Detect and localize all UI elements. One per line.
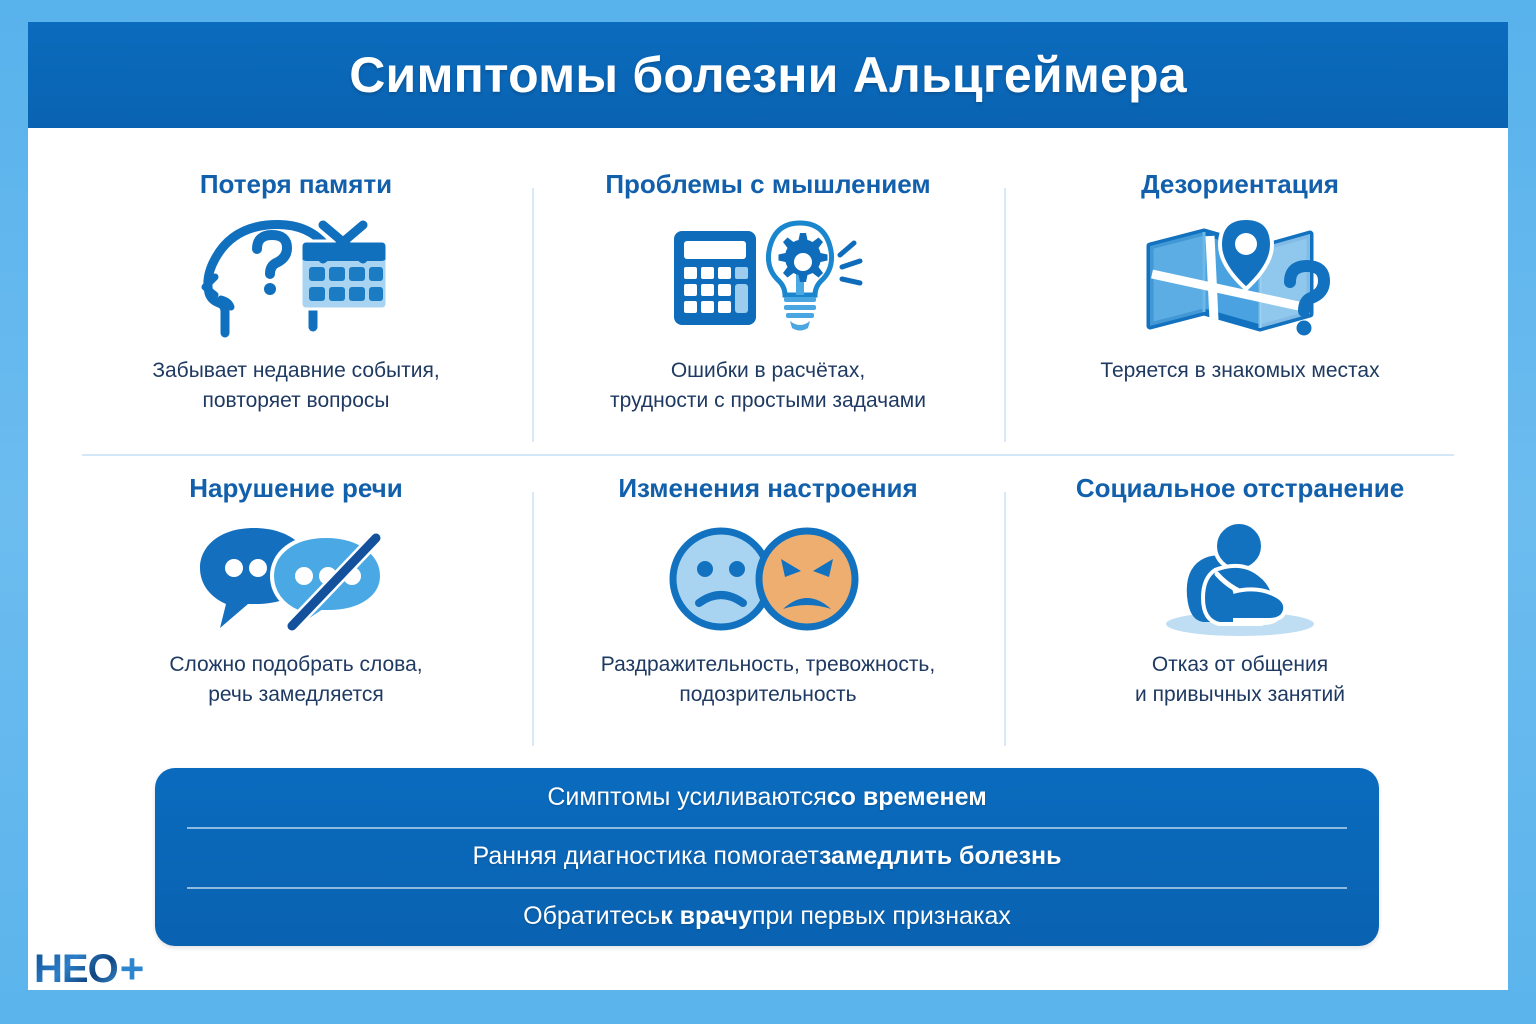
logo-plus-icon: + xyxy=(120,948,144,990)
infographic-page: Симптомы болезни Альцгеймера Потеря памя… xyxy=(0,0,1536,1024)
card-description: Ошибки в расчётах,трудности с простыми з… xyxy=(610,356,926,416)
symptom-card-thinking-problems[interactable]: Проблемы с мышлением xyxy=(532,150,1004,454)
banner-line-plain: Обратитесь xyxy=(523,902,660,931)
card-description: Забывает недавние события,повторяет вопр… xyxy=(152,356,439,416)
neo-plus-logo: НЕО + xyxy=(34,948,143,990)
header-bar: Симптомы болезни Альцгеймера xyxy=(28,22,1508,128)
card-description: Раздражительность, тревожность,подозрите… xyxy=(601,650,935,710)
banner-line-plain: Симптомы усиливаются xyxy=(547,783,826,812)
banner-line-tail: при первых признаках xyxy=(752,902,1011,931)
card-title: Дезориентация xyxy=(1141,170,1339,200)
banner-line-early-diagnosis: Ранняя диагностика помогает замедлить бо… xyxy=(155,827,1379,886)
symptom-card-social-withdrawal[interactable]: Социальное отстранение Отказ от общенияи… xyxy=(1004,454,1476,758)
card-title: Изменения настроения xyxy=(618,474,917,504)
page-title: Симптомы болезни Альцгеймера xyxy=(349,46,1187,104)
banner-line-strong: со временем xyxy=(827,783,987,812)
calculator-lightbulb-gear-icon xyxy=(670,214,866,342)
card-title: Проблемы с мышлением xyxy=(605,170,930,200)
symptom-row-1: Потеря памяти xyxy=(60,150,1476,454)
sad-angry-faces-icon xyxy=(667,520,869,638)
card-title: Нарушение речи xyxy=(189,474,403,504)
banner-line-see-doctor: Обратитесь к врачу при первых признаках xyxy=(155,887,1379,946)
card-title: Социальное отстранение xyxy=(1076,474,1404,504)
symptom-card-memory-loss[interactable]: Потеря памяти xyxy=(60,150,532,454)
card-title: Потеря памяти xyxy=(200,170,392,200)
card-description: Сложно подобрать слова,речь замедляется xyxy=(169,650,422,710)
person-sitting-alone-icon xyxy=(1145,520,1335,638)
symptom-card-speech-impairment[interactable]: Нарушение речи Сло xyxy=(60,454,532,758)
banner-line-plain: Ранняя диагностика помогает xyxy=(473,842,819,871)
symptom-grid: Потеря памяти xyxy=(60,150,1476,758)
speech-bubbles-slashed-icon xyxy=(196,520,396,638)
symptom-row-2: Нарушение речи Сло xyxy=(60,454,1476,758)
banner-line-progression: Симптомы усиливаются со временем xyxy=(155,768,1379,827)
head-question-calendar-icon xyxy=(201,214,391,342)
card-description: Отказ от общенияи привычных занятий xyxy=(1135,650,1345,710)
key-messages-banner: Симптомы усиливаются со временем Ранняя … xyxy=(155,768,1379,946)
map-pin-question-icon xyxy=(1142,214,1338,342)
symptom-card-disorientation[interactable]: Дезориентация xyxy=(1004,150,1476,454)
card-description: Теряется в знакомых местах xyxy=(1100,356,1379,386)
logo-wordmark: НЕО xyxy=(34,949,118,989)
banner-line-strong: замедлить болезнь xyxy=(819,842,1062,871)
banner-line-strong: к врачу xyxy=(660,902,752,931)
symptom-card-mood-changes[interactable]: Изменения настроения Раздражительность, … xyxy=(532,454,1004,758)
